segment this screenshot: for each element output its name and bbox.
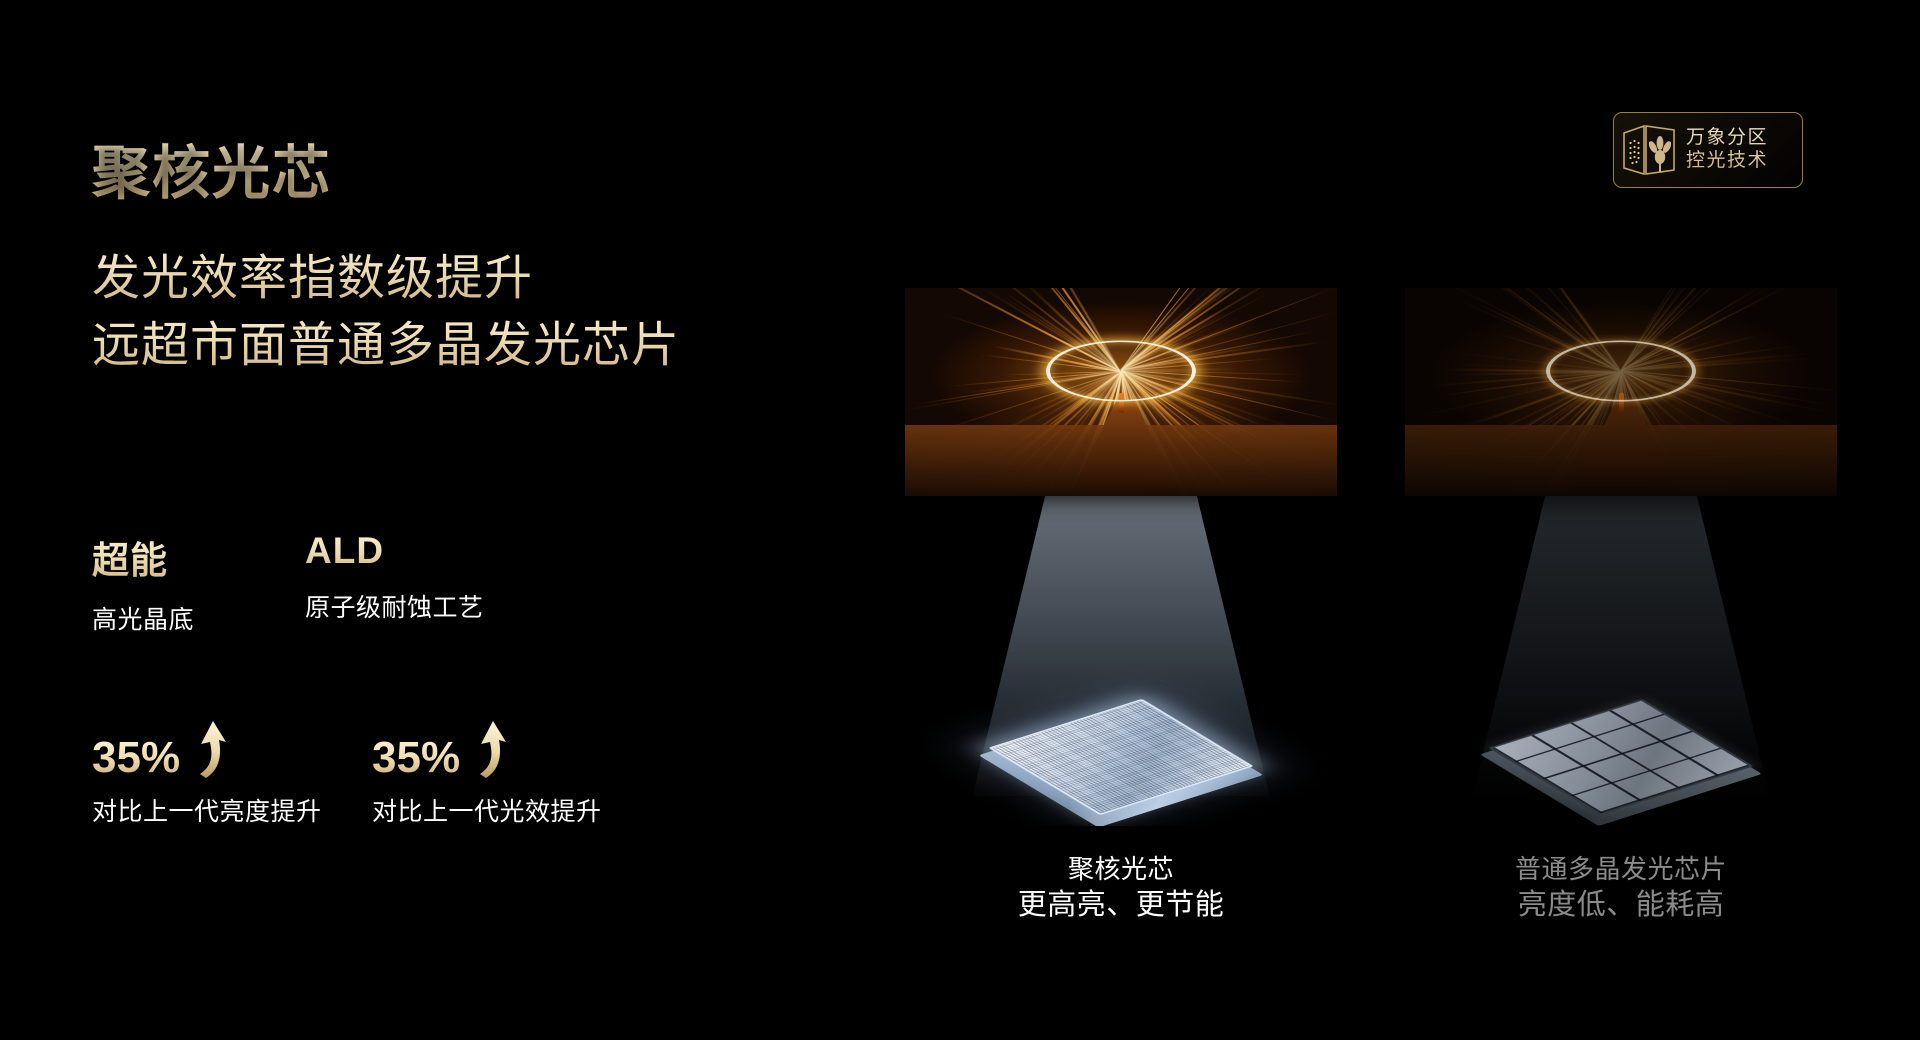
stat-value-row: 35%	[92, 718, 322, 780]
caption-line-2: 亮度低、能耗高	[1405, 886, 1837, 924]
feature-item-0: 超能 高光晶底	[92, 530, 194, 636]
arrow-up-icon	[466, 718, 512, 780]
feature-item-1: ALD 原子级耐蚀工艺	[305, 530, 484, 624]
panel-caption-dim: 普通多晶发光芯片 亮度低、能耗高	[1405, 852, 1837, 925]
stat-list: 35% 对比上一代亮度提升 35%	[92, 718, 712, 848]
feature-subtitle: 高光晶底	[92, 600, 194, 636]
chip-led-array	[988, 699, 1253, 815]
caption-line-1: 普通多晶发光芯片	[1405, 852, 1837, 886]
sparkler-photo-dim	[1405, 288, 1837, 496]
chip-body	[1488, 699, 1753, 815]
chip-body	[988, 699, 1253, 815]
chip-high-density	[971, 682, 1271, 826]
partition-light-control-badge: 万象分区 控光技术	[1613, 112, 1803, 188]
badge-line-1: 万象分区	[1686, 127, 1768, 148]
arrow-up-icon	[186, 718, 232, 780]
chip-led-array	[1488, 699, 1753, 815]
stat-value: 35%	[92, 736, 180, 780]
stat-value-row: 35%	[372, 718, 602, 780]
panel-caption-bright: 聚核光芯 更高亮、更节能	[905, 852, 1337, 925]
photo-light-ring	[1046, 341, 1196, 402]
light-cone-stage-bright	[905, 496, 1337, 826]
stat-item-0: 35% 对比上一代亮度提升	[92, 718, 322, 828]
feature-subtitle: 原子级耐蚀工艺	[305, 588, 484, 624]
subtitle-line-1: 发光效率指数级提升	[92, 238, 533, 308]
page-title: 聚核光芯	[92, 126, 332, 210]
stat-value: 35%	[372, 736, 460, 780]
stat-item-1: 35% 对比上一代光效提升	[372, 718, 602, 828]
stat-caption: 对比上一代光效提升	[372, 792, 602, 828]
chip-low-density	[1471, 682, 1771, 826]
light-cone-stage-dim	[1405, 496, 1837, 826]
sparkler-photo-bright	[905, 288, 1337, 496]
badge-label: 万象分区 控光技术	[1686, 127, 1768, 173]
badge-line-2: 控光技术	[1686, 150, 1768, 171]
feature-title: 超能	[92, 530, 194, 584]
subtitle-line-2: 远超市面普通多晶发光芯片	[92, 305, 680, 375]
photo-light-ring	[1546, 341, 1696, 402]
stat-caption: 对比上一代亮度提升	[92, 792, 322, 828]
partition-light-control-icon	[1620, 121, 1682, 179]
caption-line-1: 聚核光芯	[905, 852, 1337, 886]
caption-line-2: 更高亮、更节能	[905, 886, 1337, 924]
feature-title: ALD	[305, 530, 484, 572]
slide-root: 聚核光芯 发光效率指数级提升 远超市面普通多晶发光芯片	[0, 0, 1920, 1040]
